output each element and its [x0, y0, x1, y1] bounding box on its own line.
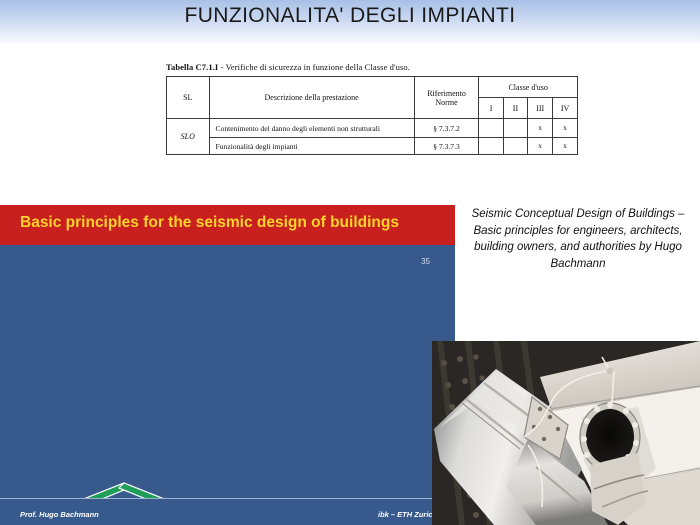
slide-banner-title: Basic principles for the seismic design … [20, 214, 399, 232]
embedded-slide: Basic principles for the seismic design … [0, 205, 455, 525]
cell-description-1: Funzionalità degli impianti [209, 138, 414, 155]
cell-class-ii-0 [503, 119, 528, 138]
slide-banner: Basic principles for the seismic design … [0, 205, 455, 245]
table-caption: Tabella C7.1.I - Verifiche di sicurezza … [166, 62, 578, 72]
table-header-row-1: SL Descrizione della prestazione Riferim… [167, 77, 578, 98]
header-reference: Riferimento Norme [414, 77, 479, 119]
table-row: SLO Contenimento del danno degli element… [167, 119, 578, 138]
cell-class-iv-0: x [553, 119, 578, 138]
duct-photo-graphic [432, 341, 700, 525]
cell-class-iv-1: x [553, 138, 578, 155]
damaged-duct-photo [432, 341, 700, 525]
header-reference-line1: Riferimento [418, 89, 476, 98]
header-class-i: I [479, 98, 503, 119]
header-class-group: Classe d'uso [479, 77, 578, 98]
table-caption-text: - Verifiche di sicurezza in funzione del… [218, 62, 410, 72]
normative-table-block: Tabella C7.1.I - Verifiche di sicurezza … [166, 62, 578, 155]
cell-class-iii-0: x [528, 119, 553, 138]
cell-reference-1: § 7.3.7.3 [414, 138, 479, 155]
cell-class-i-0 [479, 119, 503, 138]
book-reference-caption: Seismic Conceptual Design of Buildings –… [462, 206, 694, 272]
hanger-anchor-icon [607, 368, 613, 374]
slide-number: 35 [421, 257, 430, 266]
cell-class-i-1 [479, 138, 503, 155]
footer-institution: ibk – ETH Zurich [378, 510, 437, 519]
cell-class-ii-1 [503, 138, 528, 155]
safety-verification-table: SL Descrizione della prestazione Riferim… [166, 76, 578, 155]
cell-sl-slo: SLO [167, 119, 210, 155]
slide-footer: Prof. Hugo Bachmann ibk – ETH Zurich [0, 498, 455, 525]
cell-class-iii-1: x [528, 138, 553, 155]
cell-description-0: Contenimento del danno degli elementi no… [209, 119, 414, 138]
slide-title-band: FUNZIONALITA' DEGLI IMPIANTI [0, 0, 700, 45]
header-sl: SL [167, 77, 210, 119]
header-class-iii: III [528, 98, 553, 119]
table-row: Funzionalità degli impianti § 7.3.7.3 x … [167, 138, 578, 155]
table-caption-number: Tabella C7.1.I [166, 62, 218, 72]
header-reference-line2: Norme [418, 98, 476, 107]
header-class-ii: II [503, 98, 528, 119]
footer-author: Prof. Hugo Bachmann [20, 510, 99, 519]
page-title: FUNZIONALITA' DEGLI IMPIANTI [0, 4, 700, 28]
header-class-iv: IV [553, 98, 578, 119]
cell-reference-0: § 7.3.7.2 [414, 119, 479, 138]
header-description: Descrizione della prestazione [209, 77, 414, 119]
